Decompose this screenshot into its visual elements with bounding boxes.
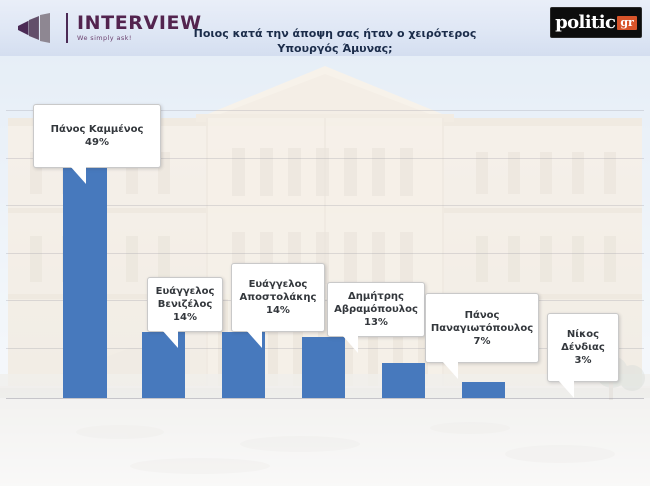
bar-panos-kammenos[interactable] [63,168,107,398]
callout-label: Ευάγγελος Αποστολάκης 14% [240,278,317,317]
interview-logo: INTERVIEW We simply ask! [16,8,201,48]
callout-label: Ευάγγελος Βενιζέλος 14% [156,285,215,324]
callout-tail [162,330,178,348]
callout-dimitris-avramopoulos[interactable]: Δημήτρης Αβραμόπουλος 13% [327,282,425,337]
callout-panos-kammenos[interactable]: Πάνος Καμμένος 49% [33,104,161,168]
callout-evangelos-apostolakis[interactable]: Ευάγγελος Αποστολάκης 14% [231,263,325,332]
politic-wordmark: politic [555,14,615,32]
callout-tail [246,330,262,348]
callout-label: Πάνος Καμμένος 49% [51,123,144,149]
callout-label: Νίκος Δένδιας 3% [561,328,605,367]
bar-panos-panagiotopoulos[interactable] [382,363,425,398]
callout-tail [70,166,86,184]
poll-question-line-1: Ποιος κατά την άποψη σας ήταν ο χειρότερ… [175,26,495,41]
callout-evangelos-venizelos[interactable]: Ευάγγελος Βενιζέλος 14% [147,277,223,332]
callout-nikos-dendias[interactable]: Νίκος Δένδιας 3% [547,313,619,382]
callout-panos-panagiotopoulos[interactable]: Πάνος Παναγιωτόπουλος 7% [425,293,539,363]
poll-question-title: Ποιος κατά την άποψη σας ήταν ο χειρότερ… [175,26,495,56]
callout-tail [342,335,358,353]
callout-tail [442,361,458,379]
callout-tail [558,380,574,398]
poll-question-line-2: Υπουργός Άμυνας; [175,41,495,56]
callout-label: Δημήτρης Αβραμόπουλος 13% [334,290,418,329]
chart-area: Πάνος Καμμένος 49% Ευάγγελος Βενιζέλος 1… [0,56,650,486]
poll-infographic: Πάνος Καμμένος 49% Ευάγγελος Βενιζέλος 1… [0,0,650,486]
logo-divider [66,13,68,43]
bar-nikos-dendias[interactable] [462,382,505,398]
politic-gr-logo[interactable]: politic gr [550,7,642,38]
politic-gr-badge: gr [617,16,637,30]
callout-label: Πάνος Παναγιωτόπουλος 7% [431,309,533,348]
bar-dimitris-avramopoulos[interactable] [302,337,345,398]
bar-chart-logo-icon [16,13,60,43]
